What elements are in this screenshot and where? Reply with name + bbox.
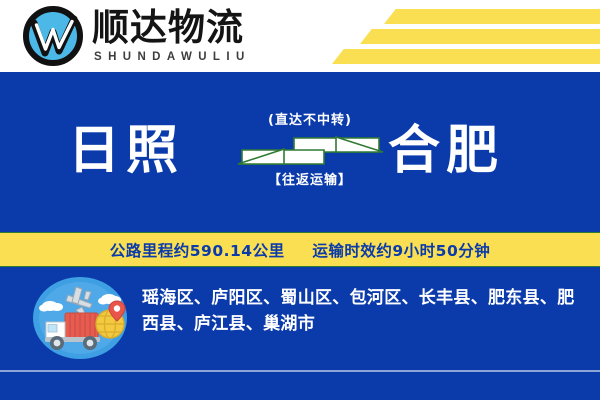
route-center-block: (直达不中转) 【往返运输】 xyxy=(236,113,384,189)
circle-swoosh-logo-icon xyxy=(22,5,84,67)
coverage-panel: 瑶海区、庐阳区、蜀山区、包河区、长丰县、肥东县、肥西县、庐江县、巢湖市 xyxy=(0,267,600,400)
brand-text: 顺达物流 SHUNDAWULIU xyxy=(92,8,251,64)
header-stripe-2 xyxy=(360,29,600,44)
header-stripe-1 xyxy=(384,9,600,24)
mileage-text: 公路里程约590.14公里 xyxy=(110,242,285,260)
route-panel: 日照 (直达不中转) 【往返运输】 合肥 xyxy=(0,72,600,230)
direct-service-note: (直达不中转) xyxy=(236,113,384,129)
banner-header: 顺达物流 SHUNDAWULIU xyxy=(0,0,600,72)
distance-duration-text: 公路里程约590.14公里 运输时效约9小时50分钟 xyxy=(110,239,491,261)
duration-text: 运输时效约9小时50分钟 xyxy=(312,242,490,260)
logistics-route-banner: 顺达物流 SHUNDAWULIU 日照 (直达不中转) xyxy=(0,0,600,400)
header-stripe-3 xyxy=(332,49,600,64)
header-stripes xyxy=(310,0,600,72)
coverage-areas-text: 瑶海区、庐阳区、蜀山区、包河区、长丰县、肥东县、肥西县、庐江县、巢湖市 xyxy=(142,285,582,337)
brand-name-cn: 顺达物流 xyxy=(92,8,251,48)
brand-logo: 顺达物流 SHUNDAWULIU xyxy=(22,5,251,67)
brand-name-en: SHUNDAWULIU xyxy=(94,50,251,64)
origin-city: 日照 xyxy=(68,122,184,180)
round-trip-note: 【往返运输】 xyxy=(236,173,384,189)
distance-duration-bar: 公路里程约590.14公里 运输时效约9小时50分钟 xyxy=(0,232,600,267)
bottom-divider xyxy=(0,370,600,372)
bidirectional-arrow-icon xyxy=(236,135,384,167)
logistics-truck-plane-globe-icon xyxy=(24,277,136,359)
destination-city: 合肥 xyxy=(388,122,504,180)
